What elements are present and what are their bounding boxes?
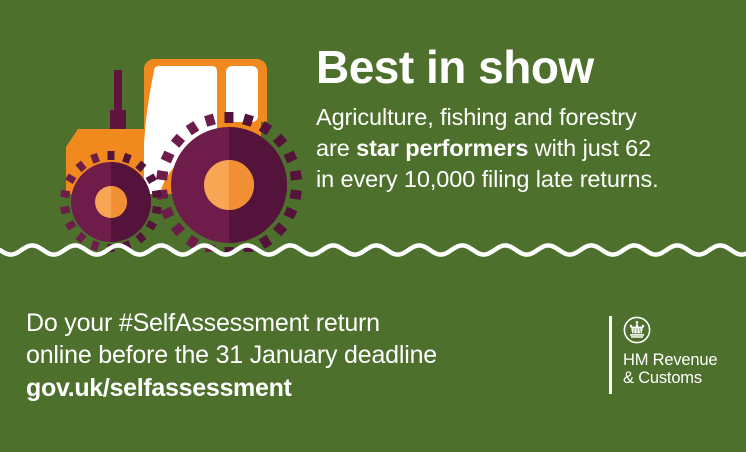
cta-line-2: online before the 31 January deadline (26, 340, 486, 372)
cta-line-1: Do your #SelfAssessment return (26, 308, 486, 340)
subhead-line-2-prefix: are (316, 135, 356, 161)
hmrc-self-assessment-poster: Best in show Agriculture, fishing and fo… (0, 0, 746, 452)
hmrc-logo: HM Revenue & Customs (609, 316, 729, 394)
hmrc-line-1: HM Revenue (623, 351, 717, 369)
tractor-illustration (56, 52, 316, 252)
cta-url-link[interactable]: gov.uk/selfassessment (26, 373, 486, 405)
subhead-line-2-suffix: with just 62 (528, 135, 651, 161)
subhead-text: Agriculture, fishing and forestry are st… (316, 102, 716, 196)
crown-icon (623, 316, 651, 344)
subhead-line-1: Agriculture, fishing and forestry (316, 104, 637, 130)
tractor-svg (56, 52, 316, 252)
subhead-emphasis: star performers (356, 135, 528, 161)
wavy-divider-svg (0, 236, 746, 264)
hmrc-line-2: & Customs (623, 369, 717, 387)
wavy-divider (0, 236, 746, 264)
logo-body: HM Revenue & Customs (612, 316, 717, 394)
hmrc-wordmark: HM Revenue & Customs (623, 351, 717, 388)
call-to-action-block: Do your #SelfAssessment return online be… (26, 308, 486, 405)
page-title: Best in show (316, 44, 716, 92)
subhead-line-3: in every 10,000 filing late returns. (316, 166, 659, 192)
headline-block: Best in show Agriculture, fishing and fo… (316, 44, 716, 196)
crown-icon-svg (623, 316, 651, 344)
